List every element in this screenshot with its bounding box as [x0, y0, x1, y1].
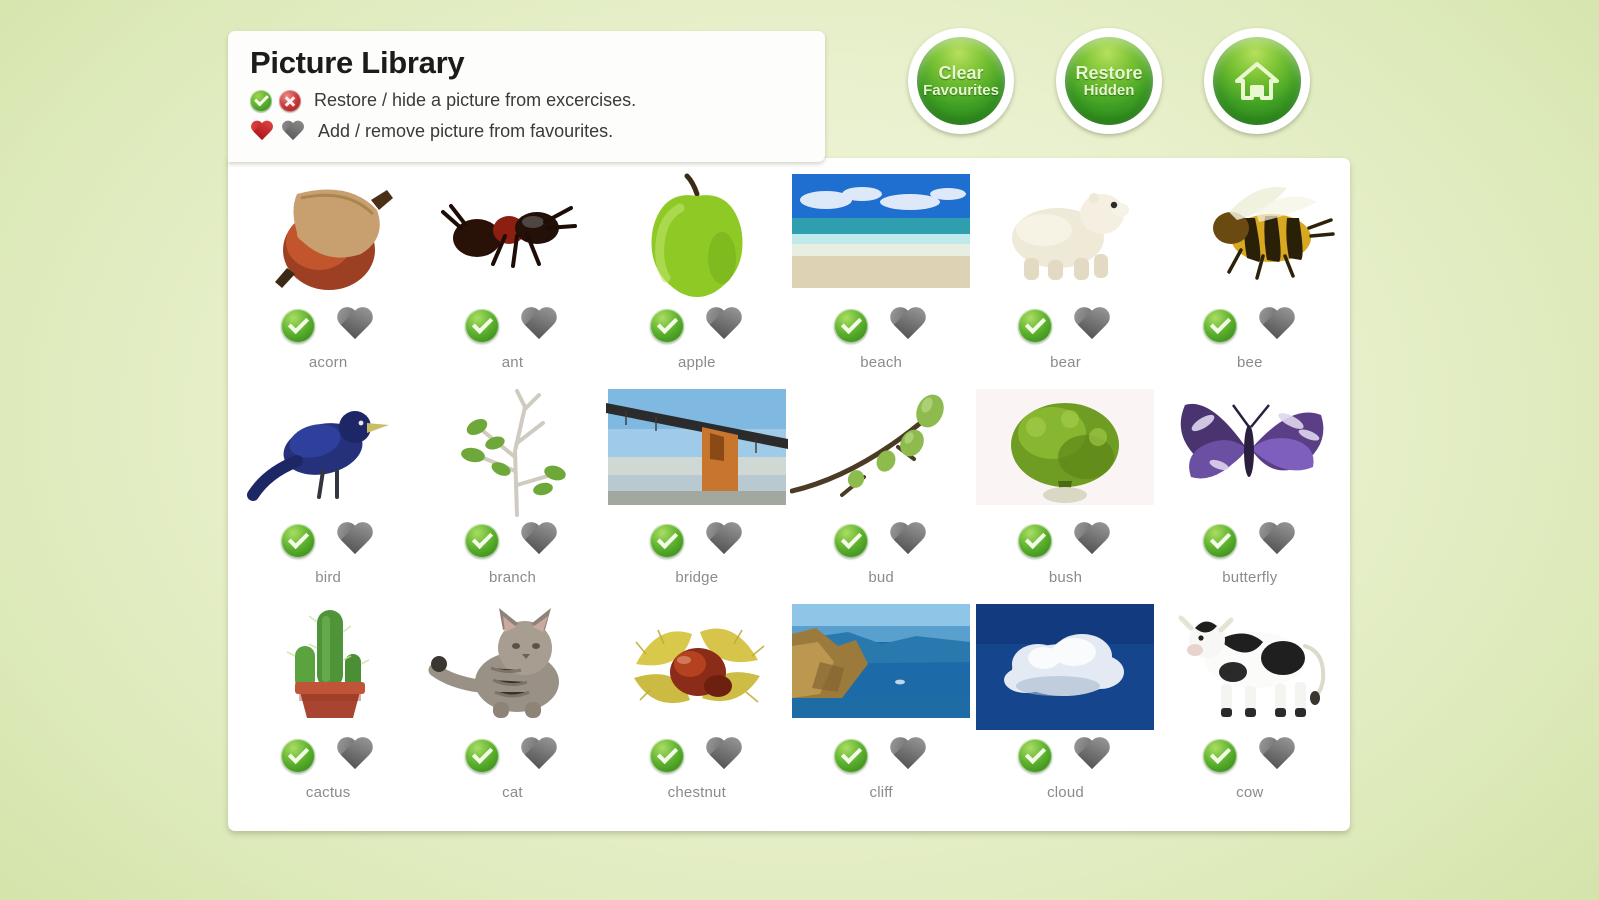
cactus-image [237, 602, 419, 734]
legend-row-favourites: Add / remove picture from favourites. [250, 118, 825, 145]
beach-image [790, 172, 972, 304]
picture-label: bud [868, 569, 894, 586]
picture-controls [1203, 738, 1297, 774]
picture-label: acorn [309, 354, 348, 371]
x-circle-icon [279, 90, 301, 112]
bud-image [790, 387, 972, 519]
picture-controls [1018, 308, 1112, 344]
picture-controls [1018, 738, 1112, 774]
picture-label: bird [315, 569, 341, 586]
picture-controls [1018, 523, 1112, 559]
butterfly-image [1159, 387, 1341, 519]
picture-grid: acorn ant apple beach [228, 158, 1350, 809]
heart-gray-icon[interactable] [704, 523, 744, 559]
acorn-image [237, 172, 419, 304]
picture-controls [465, 738, 559, 774]
home-icon [1234, 61, 1280, 101]
picture-cell: bird [236, 379, 420, 594]
check-circle-icon[interactable] [650, 524, 684, 558]
picture-controls [281, 308, 375, 344]
chestnut-image [606, 602, 788, 734]
picture-label: cliff [870, 784, 893, 801]
picture-controls [281, 523, 375, 559]
heart-gray-icon[interactable] [519, 523, 559, 559]
header-panel: Picture Library Restore / hide a picture… [228, 31, 825, 162]
picture-controls [281, 738, 375, 774]
picture-controls [834, 523, 928, 559]
picture-cell: beach [789, 164, 973, 379]
ant-image [421, 172, 603, 304]
picture-label: beach [860, 354, 902, 371]
bird-image [237, 387, 419, 519]
home-button[interactable] [1204, 28, 1310, 134]
picture-label: apple [678, 354, 716, 371]
picture-controls [465, 308, 559, 344]
check-circle-icon[interactable] [834, 309, 868, 343]
page-title: Picture Library [250, 43, 825, 83]
check-circle-icon[interactable] [1203, 309, 1237, 343]
picture-controls [1203, 308, 1297, 344]
picture-cell: cow [1158, 594, 1342, 809]
legend-row-visibility: Restore / hide a picture from excercises… [250, 87, 825, 114]
picture-label: cactus [306, 784, 351, 801]
legend-visibility-text: Restore / hide a picture from excercises… [314, 90, 636, 111]
picture-controls [1203, 523, 1297, 559]
picture-cell: bush [973, 379, 1157, 594]
legend-favourites-text: Add / remove picture from favourites. [318, 121, 613, 142]
clear-favourites-button[interactable]: Clear Favourites [908, 28, 1014, 134]
picture-controls [834, 308, 928, 344]
bear-image [974, 172, 1156, 304]
apple-image [606, 172, 788, 304]
picture-label: cow [1236, 784, 1263, 801]
check-circle-icon[interactable] [281, 524, 315, 558]
cat-image [421, 602, 603, 734]
picture-cell: branch [420, 379, 604, 594]
picture-cell: butterfly [1158, 379, 1342, 594]
check-circle-icon[interactable] [465, 524, 499, 558]
restore-hidden-label-2: Hidden [1084, 83, 1135, 100]
picture-cell: chestnut [605, 594, 789, 809]
heart-gray-icon[interactable] [335, 308, 375, 344]
picture-cell: bear [973, 164, 1157, 379]
bee-image [1159, 172, 1341, 304]
picture-label: bee [1237, 354, 1263, 371]
picture-label: branch [489, 569, 536, 586]
heart-red-icon [250, 121, 274, 143]
heart-gray-icon[interactable] [1072, 308, 1112, 344]
picture-cell: cactus [236, 594, 420, 809]
picture-cell: bud [789, 379, 973, 594]
picture-cell: acorn [236, 164, 420, 379]
picture-label: chestnut [668, 784, 726, 801]
restore-hidden-button[interactable]: Restore Hidden [1056, 28, 1162, 134]
picture-controls [650, 523, 744, 559]
check-circle-icon [250, 90, 272, 112]
restore-hidden-label-1: Restore [1075, 63, 1142, 83]
picture-cell: cat [420, 594, 604, 809]
heart-gray-icon[interactable] [519, 738, 559, 774]
picture-label: butterfly [1222, 569, 1277, 586]
check-circle-icon[interactable] [1018, 739, 1052, 773]
picture-label: bear [1050, 354, 1081, 371]
check-circle-icon[interactable] [834, 739, 868, 773]
check-circle-icon[interactable] [1203, 739, 1237, 773]
picture-label: cloud [1047, 784, 1084, 801]
check-circle-icon[interactable] [1203, 524, 1237, 558]
bridge-image [606, 387, 788, 519]
picture-cell: bee [1158, 164, 1342, 379]
heart-gray-icon[interactable] [888, 523, 928, 559]
heart-gray-icon[interactable] [888, 738, 928, 774]
picture-label: cat [502, 784, 523, 801]
check-circle-icon[interactable] [281, 309, 315, 343]
check-circle-icon[interactable] [1018, 524, 1052, 558]
picture-cell: cliff [789, 594, 973, 809]
check-circle-icon[interactable] [650, 309, 684, 343]
heart-gray-icon[interactable] [1257, 523, 1297, 559]
branch-image [421, 387, 603, 519]
check-circle-icon[interactable] [465, 739, 499, 773]
heart-gray-icon[interactable] [888, 308, 928, 344]
cloud-image [974, 602, 1156, 734]
toolbar: Clear Favourites Restore Hidden [908, 28, 1310, 134]
cliff-image [790, 602, 972, 734]
picture-controls [650, 738, 744, 774]
bush-image [974, 387, 1156, 519]
picture-label: bush [1049, 569, 1082, 586]
clear-favourites-label-2: Favourites [923, 83, 999, 100]
heart-gray-icon[interactable] [1257, 308, 1297, 344]
heart-gray-icon[interactable] [335, 738, 375, 774]
heart-gray-icon[interactable] [335, 523, 375, 559]
heart-gray-icon[interactable] [1072, 523, 1112, 559]
picture-cell: cloud [973, 594, 1157, 809]
picture-cell: bridge [605, 379, 789, 594]
heart-gray-icon[interactable] [1257, 738, 1297, 774]
picture-label: ant [502, 354, 523, 371]
picture-controls [834, 738, 928, 774]
picture-controls [650, 308, 744, 344]
picture-controls [465, 523, 559, 559]
picture-cell: ant [420, 164, 604, 379]
heart-gray-icon[interactable] [519, 308, 559, 344]
heart-gray-icon [281, 121, 305, 143]
check-circle-icon[interactable] [465, 309, 499, 343]
heart-gray-icon[interactable] [1072, 738, 1112, 774]
heart-gray-icon[interactable] [704, 308, 744, 344]
cow-image [1159, 602, 1341, 734]
heart-gray-icon[interactable] [704, 738, 744, 774]
clear-favourites-label-1: Clear [938, 63, 983, 83]
check-circle-icon[interactable] [834, 524, 868, 558]
picture-cell: apple [605, 164, 789, 379]
check-circle-icon[interactable] [281, 739, 315, 773]
picture-label: bridge [675, 569, 718, 586]
check-circle-icon[interactable] [650, 739, 684, 773]
library-panel: acorn ant apple beach [228, 158, 1350, 831]
check-circle-icon[interactable] [1018, 309, 1052, 343]
